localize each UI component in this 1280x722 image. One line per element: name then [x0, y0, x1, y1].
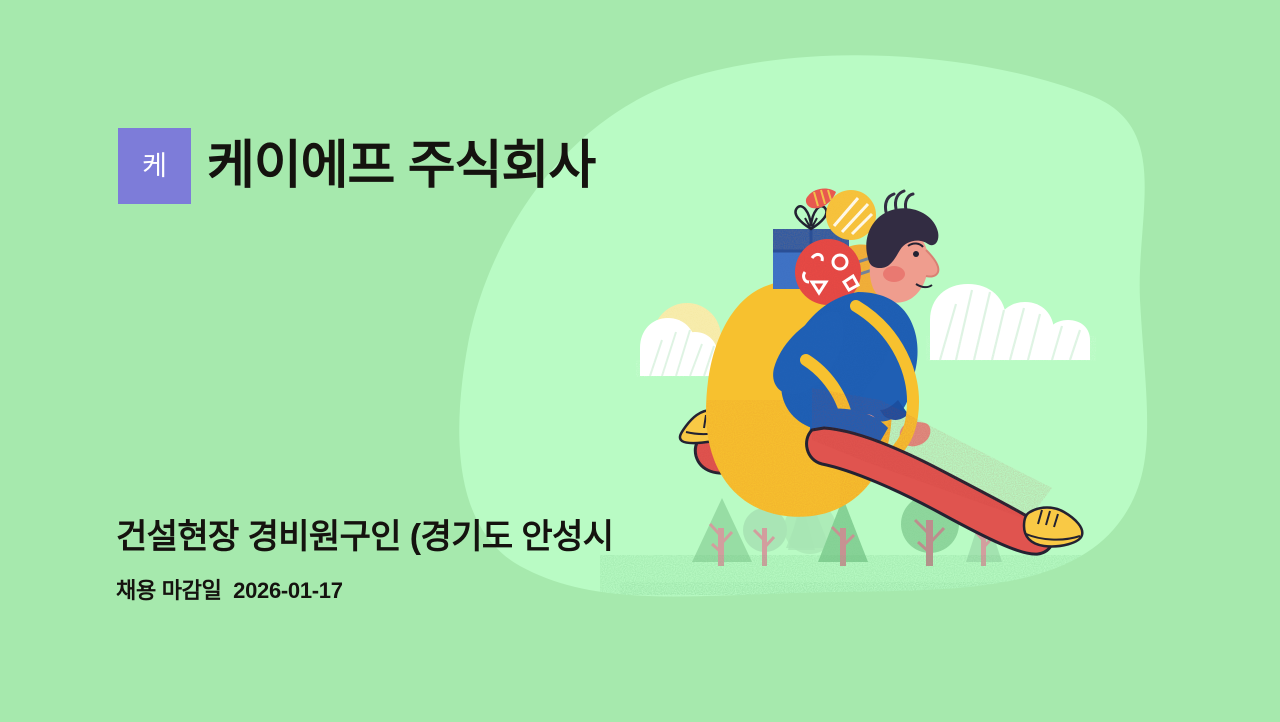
ground-texture [600, 555, 1120, 600]
job-title: 건설현장 경비원구인 (경기도 안성시 [116, 516, 613, 559]
company-name: 케이에프 주식회사 [207, 140, 595, 192]
gift-sack [700, 276, 910, 530]
gift-box-blue [773, 206, 849, 289]
company-logo-badge: 케 [118, 128, 191, 204]
confetti-shape [806, 189, 836, 209]
bush-left [636, 318, 751, 377]
gift-stack [773, 189, 892, 305]
shoe-back [680, 410, 738, 443]
ball-red [795, 239, 861, 305]
background-fill [0, 0, 1280, 722]
job-deadline: 채용 마감일 2026-01-17 [116, 578, 613, 604]
running-man-illustration [0, 0, 1280, 722]
tree-row [692, 492, 1002, 566]
runner-figure [680, 189, 1082, 555]
runner-torso [781, 292, 917, 432]
ball-orange [834, 245, 892, 303]
sun-shape [653, 303, 721, 371]
shoe-front [1024, 508, 1082, 547]
sack-strap-front [856, 306, 913, 462]
bush-right [926, 284, 1096, 361]
runner-back-arm [773, 312, 844, 394]
runner-front-arm [846, 352, 911, 442]
job-info-block: 건설현장 경비원구인 (경기도 안성시 채용 마감일 2026-01-17 [116, 516, 613, 604]
runner-front-leg [800, 380, 1082, 554]
sack-strap-back [846, 300, 894, 450]
sack-body [706, 276, 892, 516]
runner-head [866, 191, 938, 303]
runner-second-hand [900, 421, 931, 446]
runner-back-leg [680, 382, 816, 473]
company-header: 케 케이에프 주식회사 [118, 126, 595, 206]
job-posting-card: 케 케이에프 주식회사 건설현장 경비원구인 (경기도 안성시 채용 마감일 2… [0, 0, 1280, 722]
ball-yellow [826, 190, 876, 240]
